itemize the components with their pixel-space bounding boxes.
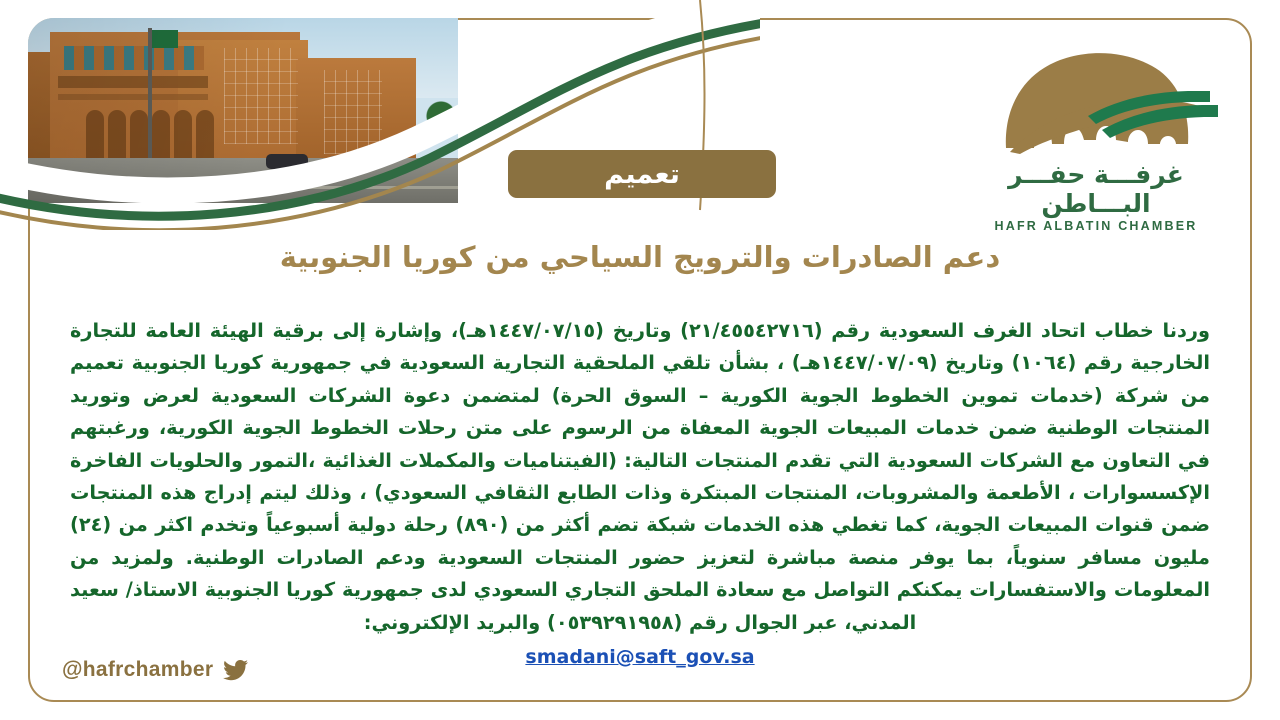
logo-english-name: HAFR ALBATIN CHAMBER bbox=[970, 219, 1222, 233]
social-handle-label: @hafrchamber bbox=[62, 658, 213, 682]
document-type-badge: تعميم bbox=[508, 150, 776, 198]
page-title: دعم الصادرات والترويج السياحي من كوريا ا… bbox=[64, 240, 1216, 274]
announcement-paragraph: وردنا خطاب اتحاد الغرف السعودية رقم (٢١/… bbox=[70, 315, 1210, 639]
social-handle[interactable]: @hafrchamber bbox=[62, 658, 249, 682]
building-photo-image bbox=[28, 18, 458, 203]
announcement-body: وردنا خطاب اتحاد الغرف السعودية رقم (٢١/… bbox=[70, 315, 1210, 673]
logo-arabic-name: غرفـــة حفـــر البـــاطن bbox=[970, 160, 1222, 218]
circular-announcement-page: غرفـــة حفـــر البـــاطن HAFR ALBATIN CH… bbox=[0, 0, 1280, 720]
logo-mark-icon bbox=[970, 44, 1222, 164]
photo-shading bbox=[28, 18, 458, 203]
document-type-label: تعميم bbox=[604, 159, 680, 190]
chamber-building-photo bbox=[28, 18, 458, 203]
contact-email-link[interactable]: smadani@saft_gov.sa bbox=[525, 646, 754, 668]
chamber-logo: غرفـــة حفـــر البـــاطن HAFR ALBATIN CH… bbox=[970, 44, 1222, 204]
twitter-bird-icon bbox=[223, 659, 249, 681]
